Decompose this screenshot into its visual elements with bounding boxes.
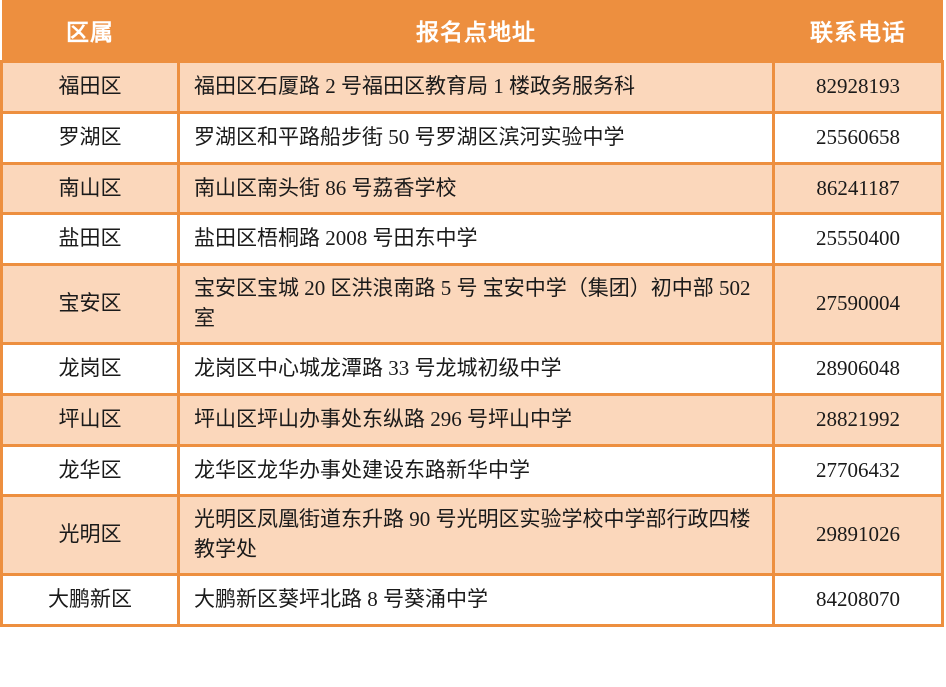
cell-phone: 29891026 — [774, 496, 943, 575]
cell-address: 福田区石厦路 2 号福田区教育局 1 楼政务服务科 — [179, 62, 774, 113]
table-row: 南山区 南山区南头街 86 号荔香学校 86241187 — [2, 163, 943, 214]
cell-district: 福田区 — [2, 62, 179, 113]
column-header-address: 报名点地址 — [179, 0, 774, 62]
registration-points-table: 区属 报名点地址 联系电话 福田区 福田区石厦路 2 号福田区教育局 1 楼政务… — [0, 0, 944, 627]
cell-address: 坪山区坪山办事处东纵路 296 号坪山中学 — [179, 394, 774, 445]
cell-phone: 25560658 — [774, 112, 943, 163]
table-row: 龙岗区 龙岗区中心城龙潭路 33 号龙城初级中学 28906048 — [2, 343, 943, 394]
cell-address: 盐田区梧桐路 2008 号田东中学 — [179, 214, 774, 265]
cell-address: 南山区南头街 86 号荔香学校 — [179, 163, 774, 214]
table-row: 光明区 光明区凤凰街道东升路 90 号光明区实验学校中学部行政四楼教学处 298… — [2, 496, 943, 575]
table-row: 宝安区 宝安区宝城 20 区洪浪南路 5 号 宝安中学（集团）初中部 502 室… — [2, 265, 943, 344]
cell-address: 宝安区宝城 20 区洪浪南路 5 号 宝安中学（集团）初中部 502 室 — [179, 265, 774, 344]
cell-district: 盐田区 — [2, 214, 179, 265]
column-header-district: 区属 — [2, 0, 179, 62]
cell-phone: 86241187 — [774, 163, 943, 214]
table-row: 盐田区 盐田区梧桐路 2008 号田东中学 25550400 — [2, 214, 943, 265]
cell-district: 大鹏新区 — [2, 574, 179, 625]
table-row: 大鹏新区 大鹏新区葵坪北路 8 号葵涌中学 84208070 — [2, 574, 943, 625]
cell-district: 罗湖区 — [2, 112, 179, 163]
cell-address: 龙岗区中心城龙潭路 33 号龙城初级中学 — [179, 343, 774, 394]
cell-phone: 27706432 — [774, 445, 943, 496]
cell-phone: 82928193 — [774, 62, 943, 113]
registration-points-table-container: 区属 报名点地址 联系电话 福田区 福田区石厦路 2 号福田区教育局 1 楼政务… — [0, 0, 946, 687]
cell-district: 龙华区 — [2, 445, 179, 496]
table-row: 坪山区 坪山区坪山办事处东纵路 296 号坪山中学 28821992 — [2, 394, 943, 445]
cell-district: 光明区 — [2, 496, 179, 575]
cell-phone: 28821992 — [774, 394, 943, 445]
cell-district: 龙岗区 — [2, 343, 179, 394]
column-header-phone: 联系电话 — [774, 0, 943, 62]
table-body: 福田区 福田区石厦路 2 号福田区教育局 1 楼政务服务科 82928193 罗… — [2, 62, 943, 626]
cell-district: 坪山区 — [2, 394, 179, 445]
table-header: 区属 报名点地址 联系电话 — [2, 0, 943, 62]
table-row: 福田区 福田区石厦路 2 号福田区教育局 1 楼政务服务科 82928193 — [2, 62, 943, 113]
cell-address: 罗湖区和平路船步街 50 号罗湖区滨河实验中学 — [179, 112, 774, 163]
cell-phone: 27590004 — [774, 265, 943, 344]
cell-address: 光明区凤凰街道东升路 90 号光明区实验学校中学部行政四楼教学处 — [179, 496, 774, 575]
cell-phone: 25550400 — [774, 214, 943, 265]
cell-phone: 84208070 — [774, 574, 943, 625]
table-header-row: 区属 报名点地址 联系电话 — [2, 0, 943, 62]
cell-district: 宝安区 — [2, 265, 179, 344]
cell-phone: 28906048 — [774, 343, 943, 394]
table-row: 罗湖区 罗湖区和平路船步街 50 号罗湖区滨河实验中学 25560658 — [2, 112, 943, 163]
cell-district: 南山区 — [2, 163, 179, 214]
table-row: 龙华区 龙华区龙华办事处建设东路新华中学 27706432 — [2, 445, 943, 496]
cell-address: 大鹏新区葵坪北路 8 号葵涌中学 — [179, 574, 774, 625]
cell-address: 龙华区龙华办事处建设东路新华中学 — [179, 445, 774, 496]
